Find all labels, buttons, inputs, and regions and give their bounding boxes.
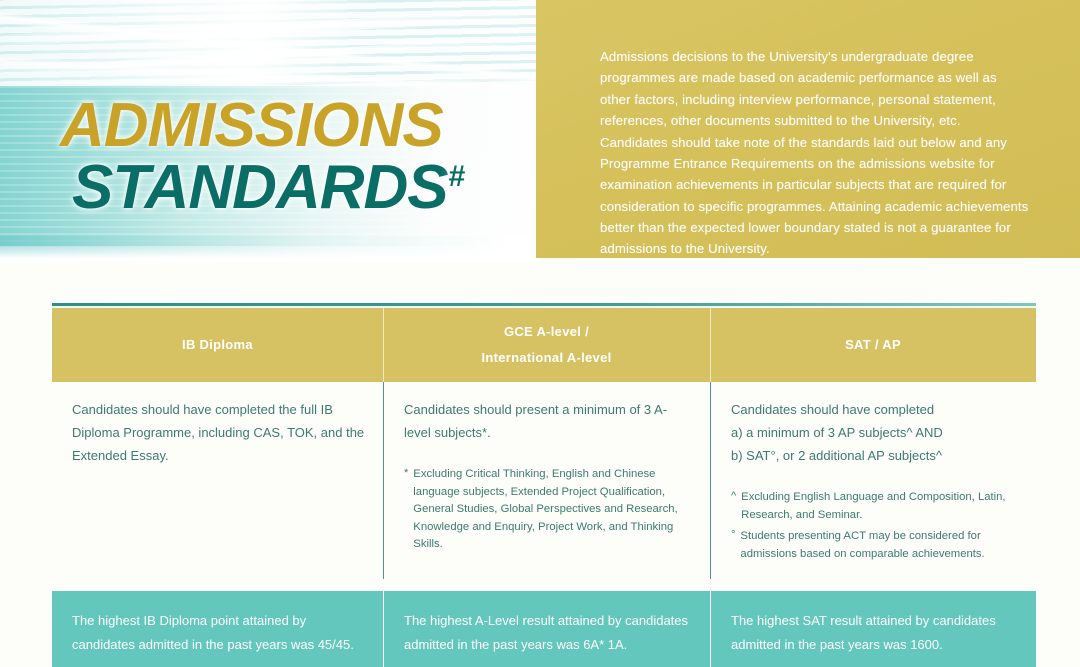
sat-ap-item-b: b) SAT°, or 2 additional AP subjects^ xyxy=(731,444,1018,467)
gce-requirement-text: Candidates should present a minimum of 3… xyxy=(404,398,692,444)
banner: ADMISSIONS STANDARDS# xyxy=(0,0,540,262)
intro-panel: Admissions decisions to the University's… xyxy=(536,0,1080,258)
highlight-ib-diploma: The highest IB Diploma point attained by… xyxy=(52,591,383,667)
sat-ap-footnote-2-text: Students presenting ACT may be considere… xyxy=(740,528,1018,563)
streak-line-3 xyxy=(60,0,540,4)
admissions-standards-page: ADMISSIONS STANDARDS# Admissions decisio… xyxy=(0,0,1080,667)
table-cell-sat-ap: Candidates should have completed a) a mi… xyxy=(710,382,1036,579)
sat-ap-footnote-1-text: Excluding English Language and Compositi… xyxy=(741,489,1018,524)
table-header-gce-line2: International A-level xyxy=(481,350,611,365)
sat-ap-footnotes: ^ Excluding English Language and Composi… xyxy=(731,489,1018,563)
page-title: ADMISSIONS STANDARDS# xyxy=(60,96,464,217)
table-header-sat-ap: SAT / AP xyxy=(710,308,1036,382)
table-header-sat-ap-line1: SAT / AP xyxy=(845,337,901,352)
sat-ap-footnote-1-marker: ^ xyxy=(731,489,736,524)
sat-ap-footnote-2-marker: ° xyxy=(731,528,735,563)
table-highlight-row: The highest IB Diploma point attained by… xyxy=(52,591,1036,667)
highlight-sat: The highest SAT result attained by candi… xyxy=(710,591,1036,667)
page-title-footnote-marker: # xyxy=(449,160,465,193)
intro-paragraph: Admissions decisions to the University's… xyxy=(600,46,1030,260)
page-title-line-2-text: STANDARDS xyxy=(72,153,448,222)
table-cell-ib-diploma: Candidates should have completed the ful… xyxy=(52,382,383,579)
table-header-gce-a-level: GCE A-level / International A-level xyxy=(383,308,710,382)
gce-footnote-text: Excluding Critical Thinking, English and… xyxy=(413,466,692,554)
ib-diploma-requirement-text: Candidates should have completed the ful… xyxy=(72,398,365,467)
sat-ap-item-a: a) a minimum of 3 AP subjects^ AND xyxy=(731,421,1018,444)
page-title-line-2: STANDARDS# xyxy=(72,158,464,218)
page-title-line-1: ADMISSIONS xyxy=(60,96,464,156)
gce-footnote-asterisk: * Excluding Critical Thinking, English a… xyxy=(404,466,692,554)
table-header-ib-diploma: IB Diploma xyxy=(52,308,383,382)
banner-bottom-fade xyxy=(0,246,540,262)
highlight-a-level: The highest A-Level result attained by c… xyxy=(383,591,710,667)
table-header-gce-line1: GCE A-level / xyxy=(504,324,589,339)
sat-ap-requirement-text: Candidates should have completed xyxy=(731,398,1018,421)
table-body-row: Candidates should have completed the ful… xyxy=(52,382,1036,579)
table-row-gap xyxy=(52,579,1036,591)
gce-footnotes: * Excluding Critical Thinking, English a… xyxy=(404,466,692,554)
sat-ap-footnote-caret: ^ Excluding English Language and Composi… xyxy=(731,489,1018,524)
table-cell-gce-a-level: Candidates should present a minimum of 3… xyxy=(383,382,710,579)
sat-ap-requirement-items: a) a minimum of 3 AP subjects^ AND b) SA… xyxy=(731,421,1018,467)
table-header-ib-diploma-line1: IB Diploma xyxy=(182,337,253,352)
sat-ap-footnote-degree: ° Students presenting ACT may be conside… xyxy=(731,528,1018,563)
admissions-standards-table: IB Diploma GCE A-level / International A… xyxy=(52,303,1036,667)
gce-footnote-marker: * xyxy=(404,466,408,554)
table-header-row: IB Diploma GCE A-level / International A… xyxy=(52,308,1036,382)
